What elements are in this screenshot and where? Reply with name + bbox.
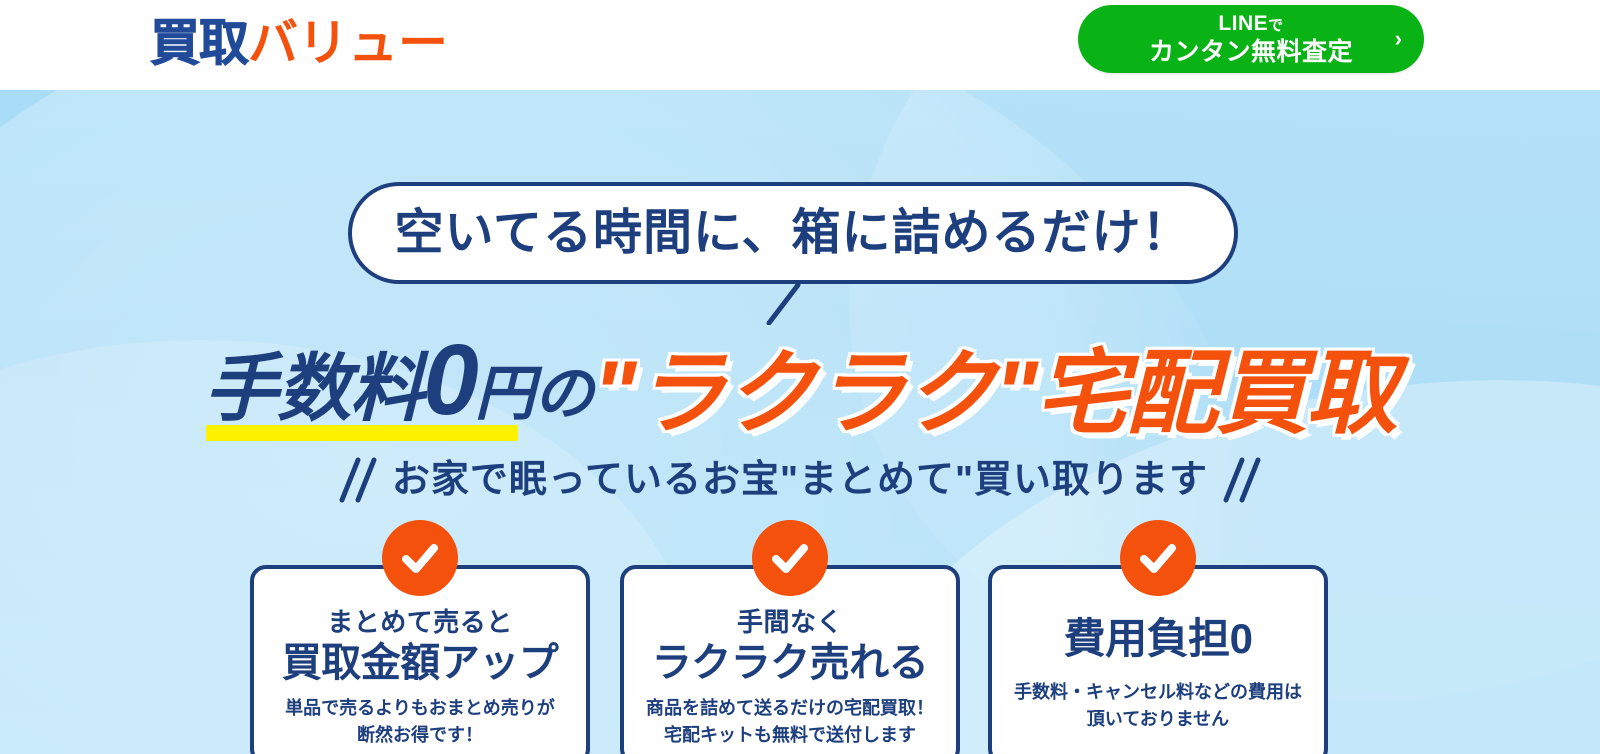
headline-orange-part: "ラクラク"宅配買取 — [593, 343, 1396, 445]
feature-card-list: まとめて売ると 買取金額アップ 単品で売るよりもおまとめ売りが断然お得です！ 手… — [0, 565, 1600, 754]
landing-page: 空いてる時間に、箱に詰めるだけ！ 手数料0円の"ラクラク"宅配買取 お家で眠って… — [0, 0, 1600, 754]
headline-zero: 0 — [423, 324, 475, 436]
check-circle-icon — [1120, 520, 1196, 596]
line-brand-suffix: で — [1268, 17, 1284, 34]
feature-card-1-small: まとめて売ると — [254, 605, 586, 639]
feature-card-2-small: 手間なく — [624, 605, 956, 639]
logo-text-secondary: バリュー — [248, 15, 448, 71]
logo-text-primary: 買取 — [150, 15, 248, 71]
feature-card-2-desc: 商品を詰めて送るだけの宅配買取！宅配キットも無料で送付します — [624, 695, 956, 749]
headline-no: の — [534, 360, 593, 427]
chevron-right-icon: › — [1395, 28, 1402, 50]
headline-yen: 円 — [475, 360, 534, 427]
slash-left-icon — [338, 456, 378, 504]
line-brand-label: LINE — [1218, 12, 1268, 35]
site-logo[interactable]: 買取バリュー — [150, 8, 448, 78]
hero-subline-text: お家で眠っているお宝"まとめて"買い取ります — [392, 459, 1208, 501]
check-circle-icon — [382, 520, 458, 596]
line-button-line1: LINEで — [1078, 5, 1424, 37]
speech-bubble-tail-icon — [765, 283, 801, 325]
hero-speech-bubble: 空いてる時間に、箱に詰めるだけ！ — [348, 182, 1238, 284]
headline-prefix: 手数料 — [204, 347, 423, 430]
line-free-appraisal-button[interactable]: LINEで カンタン無料査定 › — [1078, 5, 1424, 73]
line-button-line2: カンタン無料査定 — [1078, 37, 1424, 67]
site-header: 買取バリュー LINEで カンタン無料査定 › — [0, 0, 1600, 90]
hero-subline: お家で眠っているお宝"まとめて"買い取ります — [0, 452, 1600, 508]
feature-card-1-desc: 単品で売るよりもおまとめ売りが断然お得です！ — [254, 695, 586, 749]
hero-headline: 手数料0円の"ラクラク"宅配買取 — [0, 325, 1600, 440]
hero-speech-bubble-text: 空いてる時間に、箱に詰めるだけ！ — [394, 209, 1191, 258]
feature-card-2-title: ラクラク売れる — [624, 639, 956, 687]
check-circle-icon — [752, 520, 828, 596]
feature-card-3-title: 費用負担0 — [992, 615, 1324, 663]
feature-card-1-title: 買取金額アップ — [254, 639, 586, 687]
headline-navy-part: 手数料0円の — [204, 347, 593, 430]
feature-card-3-desc: 手数料・キャンセル料などの費用は頂いておりません — [992, 679, 1324, 733]
slash-right-icon — [1222, 456, 1262, 504]
